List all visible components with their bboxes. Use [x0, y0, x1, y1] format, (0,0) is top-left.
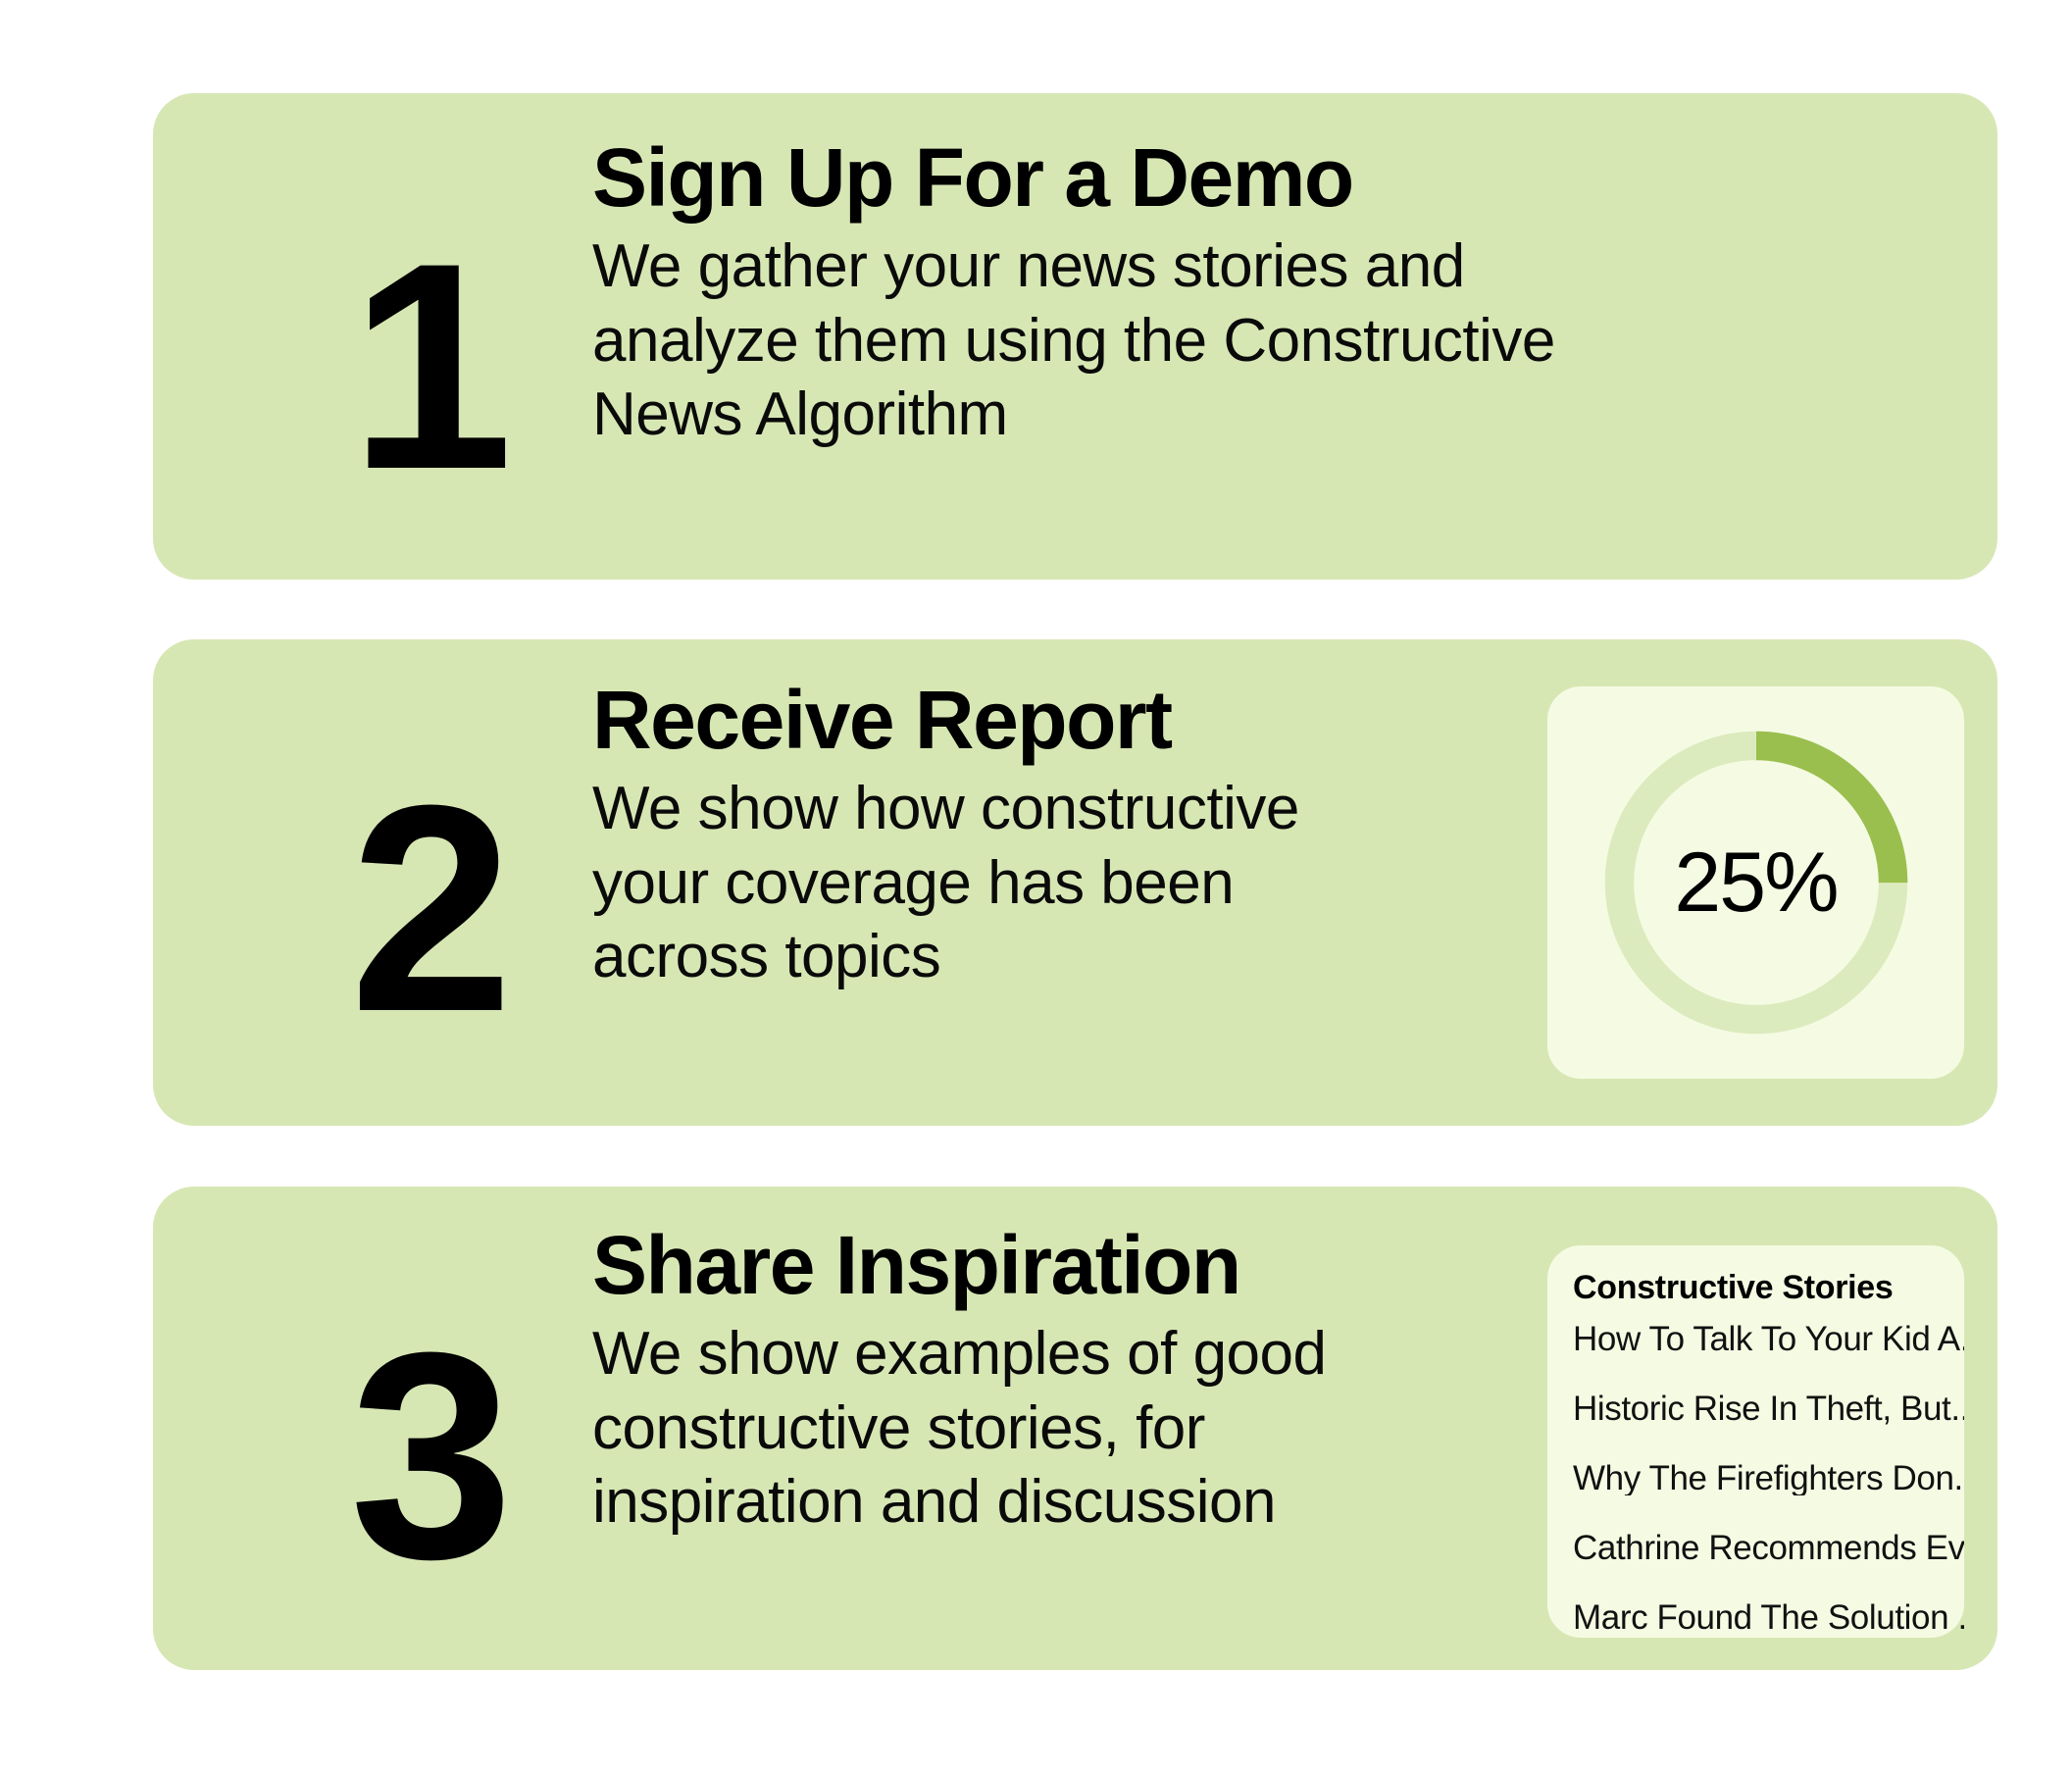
- step-body-line: News Algorithm: [592, 378, 1573, 452]
- step-text-3: Share Inspiration We show examples of go…: [592, 1222, 1573, 1540]
- constructive-stories-panel: Constructive Stories How To Talk To Your…: [1547, 1245, 1964, 1638]
- step-title-2: Receive Report: [592, 677, 1573, 764]
- step-body-line: We show how constructive: [592, 772, 1573, 846]
- list-item[interactable]: Historic Rise In Theft, But...: [1573, 1392, 1964, 1426]
- step-number-2: 2: [261, 761, 594, 1055]
- step-number-1: 1: [261, 219, 594, 513]
- step-number-3: 3: [261, 1308, 594, 1602]
- donut-chart-panel: 25%: [1547, 686, 1964, 1079]
- step-text-2: Receive Report We show how constructive …: [592, 677, 1573, 994]
- infographic-canvas: 1 Sign Up For a Demo We gather your news…: [0, 0, 2072, 1772]
- step-card-3: 3 Share Inspiration We show examples of …: [153, 1187, 1997, 1670]
- stories-panel-title: Constructive Stories: [1573, 1271, 1964, 1304]
- step-body-line: analyze them using the Constructive: [592, 304, 1573, 379]
- list-item[interactable]: Why The Firefighters Don...: [1573, 1461, 1964, 1495]
- list-item[interactable]: Cathrine Recommends Ev...: [1573, 1531, 1964, 1565]
- donut-percentage-label: 25%: [1598, 725, 1914, 1040]
- step-card-2: 2 Receive Report We show how constructiv…: [153, 639, 1997, 1126]
- step-body-line: We show examples of good: [592, 1317, 1573, 1392]
- step-body-2: We show how constructive your coverage h…: [592, 772, 1573, 994]
- step-body-line: constructive stories, for: [592, 1392, 1573, 1466]
- step-card-1: 1 Sign Up For a Demo We gather your news…: [153, 93, 1997, 580]
- step-text-1: Sign Up For a Demo We gather your news s…: [592, 134, 1573, 452]
- step-title-1: Sign Up For a Demo: [592, 134, 1573, 222]
- step-body-3: We show examples of good constructive st…: [592, 1317, 1573, 1540]
- donut-progress-chart: 25%: [1598, 725, 1914, 1040]
- list-item[interactable]: Marc Found The Solution ...: [1573, 1600, 1964, 1635]
- step-body-line: We gather your news stories and: [592, 229, 1573, 304]
- step-body-line: inspiration and discussion: [592, 1465, 1573, 1540]
- step-title-3: Share Inspiration: [592, 1222, 1573, 1309]
- list-item[interactable]: How To Talk To Your Kid A...: [1573, 1322, 1964, 1356]
- step-body-line: across topics: [592, 920, 1573, 994]
- step-body-line: your coverage has been: [592, 846, 1573, 921]
- step-body-1: We gather your news stories and analyze …: [592, 229, 1573, 452]
